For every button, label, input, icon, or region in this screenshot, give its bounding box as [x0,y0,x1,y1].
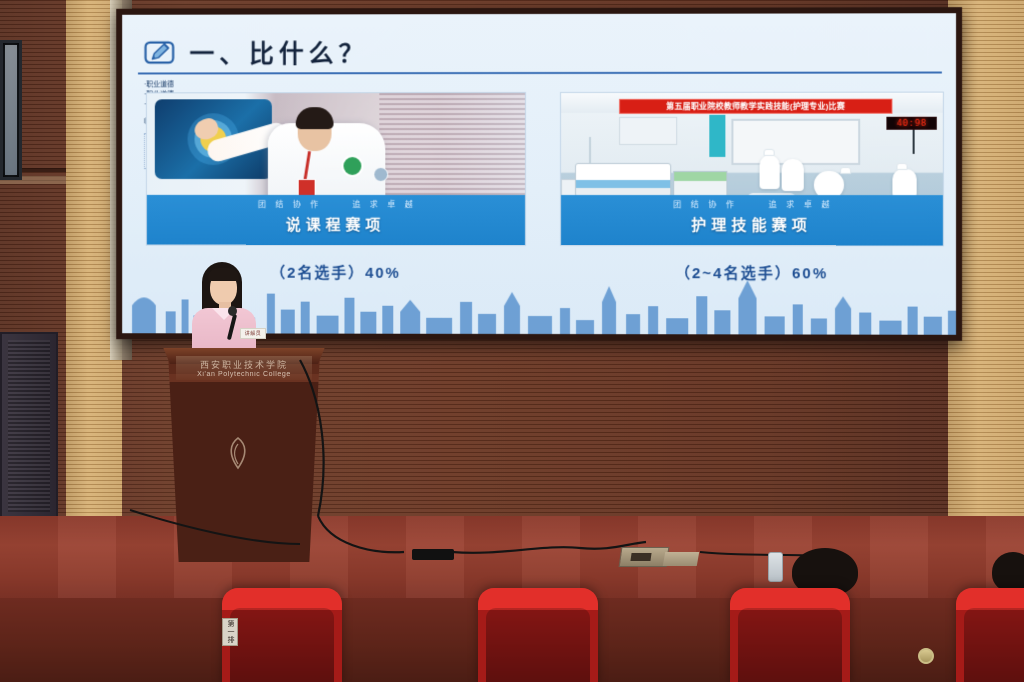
right-card-ribbon: 团 结 协 作 追 求 卓 越 护理技能赛项 [561,195,943,245]
photo-nurse-cap-4 [896,163,907,170]
seat-row-tag-text: 第一排 [225,620,235,644]
slogan-l-3: 协 [293,199,301,210]
floor-cable-right [452,542,646,553]
presenter-hair [296,107,334,129]
slogan2-l-3: 协 [708,199,717,210]
wall-monitor-screen [5,45,17,175]
left-card-ribbon: 团 结 协 作 追 求 卓 越 说课程赛项 [147,195,525,245]
seat-row-tag: 第一排 [222,618,238,646]
slide-header: 一、比什么？ [144,27,936,76]
right-ribbon-slogan: 团 结 协 作 追 求 卓 越 [561,199,943,210]
photo-whiteboard [731,119,860,165]
mic-cable-upper [300,360,324,516]
lecture-hall-scene: 一、比什么？ ·职业道德 ·职业道德 ·个人品质 临床表现及护理措施 护理、正确… [0,0,1024,682]
coat-green-patch [341,155,363,177]
photo-nurse-cap-1 [764,149,775,156]
nursing-skills-card: 40:98 第五届职业院校教师教学实践技能(护理专业)比赛 团 结 协 作 [560,92,944,247]
floor-outlet-plate-2 [663,552,699,566]
slogan-l-1: 团 [258,199,266,210]
slogan2-r-4: 越 [821,199,830,210]
seat-3[interactable] [730,588,850,682]
left-card-caption: 说课程赛项 [147,214,525,235]
slogan2-r-2: 求 [786,199,795,210]
slogan-r-1: 追 [352,199,360,210]
floor-outlet-plate [619,547,670,567]
led-clock-stand [913,130,915,154]
coat-blue-patch [373,167,388,182]
seat-1[interactable] [222,588,342,682]
audience-phone [768,552,783,582]
photo-hospital-bed [575,163,671,197]
note-line-1: ·职业道德 [144,80,255,90]
cable-inline-connector [412,549,454,560]
microphone-head [228,306,237,316]
seat-2[interactable] [478,588,598,682]
led-timer: 40:98 [886,117,936,130]
competition-banner: 第五届职业院校教师教学实践技能(护理专业)比赛 [619,99,892,114]
photo-nurse-4 [892,169,916,197]
slogan2-l-4: 作 [726,199,735,210]
course-lecture-card: 团 结 协 作 追 求 卓 越 说课程赛项 [146,92,526,246]
cable-group [0,330,1024,580]
photo-green-trolley [673,171,727,197]
floor-outlet-slot [630,553,651,561]
slogan2-l-2: 结 [691,199,700,210]
floor-cable-left [130,510,300,544]
slogan-r-4: 越 [405,199,413,210]
wall-monitor [0,40,22,180]
photo-whiteboard-small [619,117,677,145]
slogan-r-3: 卓 [387,199,395,210]
slogan2-r-3: 卓 [804,199,813,210]
photo-teal-poster [709,115,725,157]
slogan-l-4: 作 [310,199,318,210]
right-card-caption: 护理技能赛项 [561,214,943,235]
photo-nurse-2 [782,159,804,191]
competition-banner-text: 第五届职业院校教师教学实践技能(护理专业)比赛 [666,101,845,112]
pencil-edit-icon [144,40,176,66]
mic-cable-mid [318,516,404,552]
seat-4[interactable] [956,588,1024,682]
led-timer-value: 40:98 [897,118,927,128]
slogan-l-2: 结 [275,199,283,210]
slogan2-r-1: 追 [769,199,778,210]
slide-title: 一、比什么？ [190,34,369,70]
audience-head-2 [992,552,1024,592]
left-ribbon-slogan: 团 结 协 作 追 求 卓 越 [147,199,525,210]
presenter-fringe [208,268,239,281]
audience-watch [918,648,934,664]
slogan2-l-1: 团 [673,199,682,210]
photo-nurse-1 [760,155,780,189]
photo-nurse-cap-3 [840,167,851,174]
slogan-r-2: 求 [370,199,378,210]
